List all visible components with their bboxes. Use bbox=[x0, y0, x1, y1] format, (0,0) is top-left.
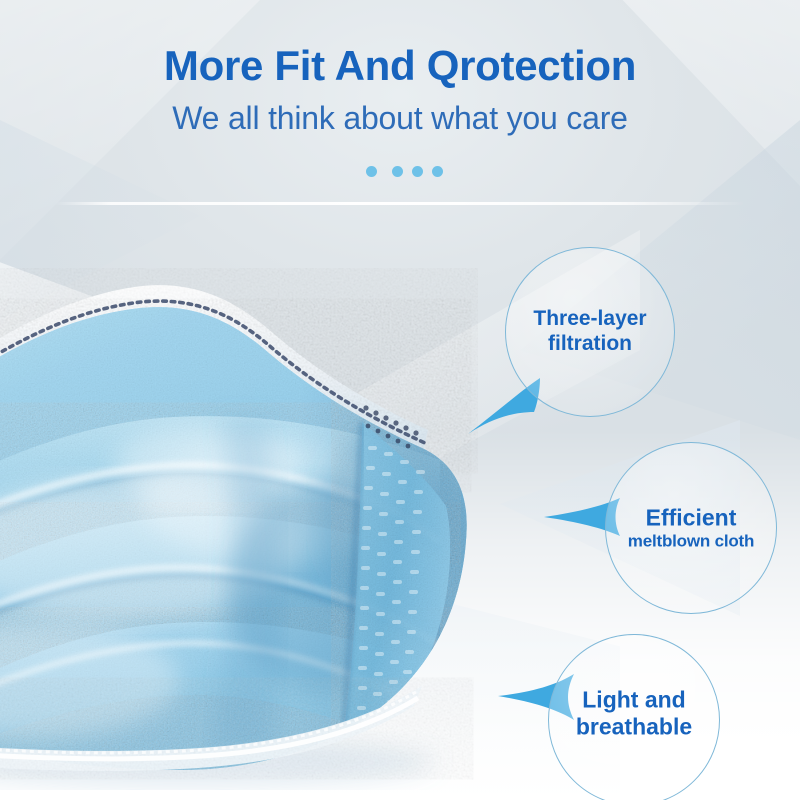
callout-line-2: meltblown cloth bbox=[605, 532, 777, 552]
callout-text: Efficient meltblown cloth bbox=[597, 504, 785, 551]
callout-efficient-meltblown-cloth: Efficient meltblown cloth bbox=[605, 442, 777, 614]
decorative-dots bbox=[0, 166, 800, 180]
product-marketing-poster: More Fit And Qrotection We all think abo… bbox=[0, 0, 800, 800]
page-title: More Fit And Qrotection bbox=[0, 42, 800, 90]
callout-line-1: Three-layer bbox=[513, 307, 667, 332]
callout-light-and-breathable: Light and breathable bbox=[548, 634, 720, 800]
dot-icon bbox=[366, 166, 377, 177]
callout-text: Light and breathable bbox=[548, 686, 720, 740]
callout-line-1: Efficient bbox=[605, 504, 777, 531]
face-mask-product-image bbox=[0, 250, 530, 790]
dot-icon bbox=[432, 166, 443, 177]
callout-line-2: filtration bbox=[513, 332, 667, 357]
page-subtitle: We all think about what you care bbox=[0, 100, 800, 137]
header-divider bbox=[55, 202, 745, 205]
dot-icon bbox=[412, 166, 423, 177]
callout-line-2: breathable bbox=[556, 713, 712, 740]
callout-text: Three-layer filtration bbox=[505, 307, 675, 357]
callout-three-layer-filtration: Three-layer filtration bbox=[505, 247, 675, 417]
callout-line-1: Light and bbox=[556, 686, 712, 713]
dot-icon bbox=[392, 166, 403, 177]
